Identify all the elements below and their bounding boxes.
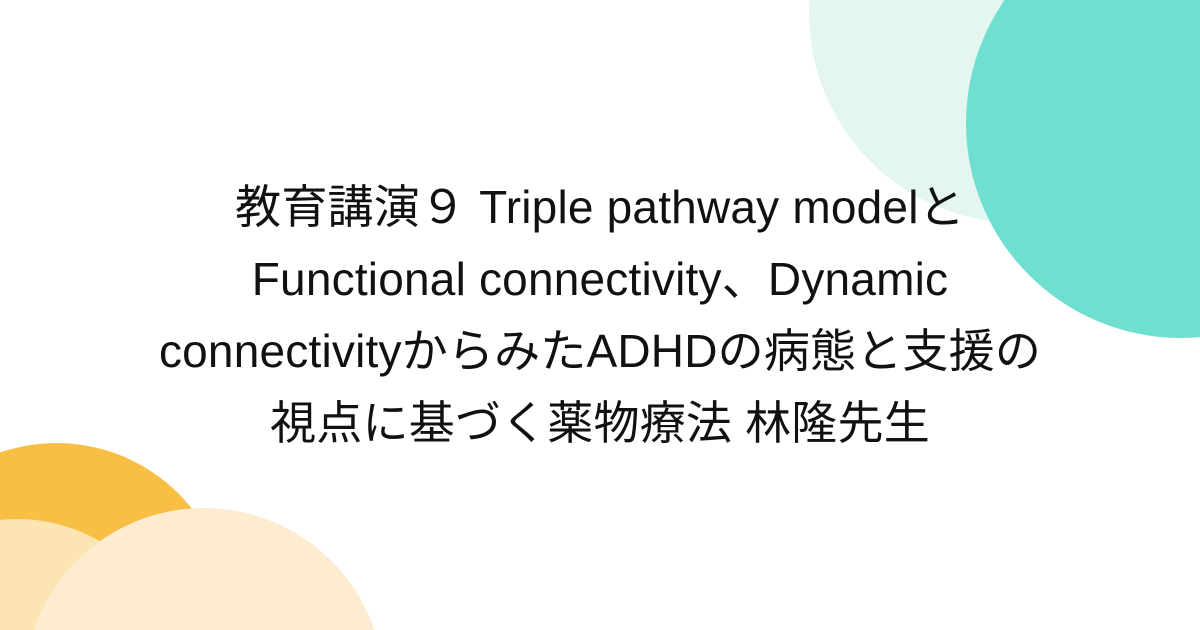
ogp-card: 教育講演９ Triple pathway modelとFunctional co… (0, 0, 1200, 630)
title-block: 教育講演９ Triple pathway modelとFunctional co… (0, 0, 1200, 630)
page-title: 教育講演９ Triple pathway modelとFunctional co… (150, 171, 1050, 459)
